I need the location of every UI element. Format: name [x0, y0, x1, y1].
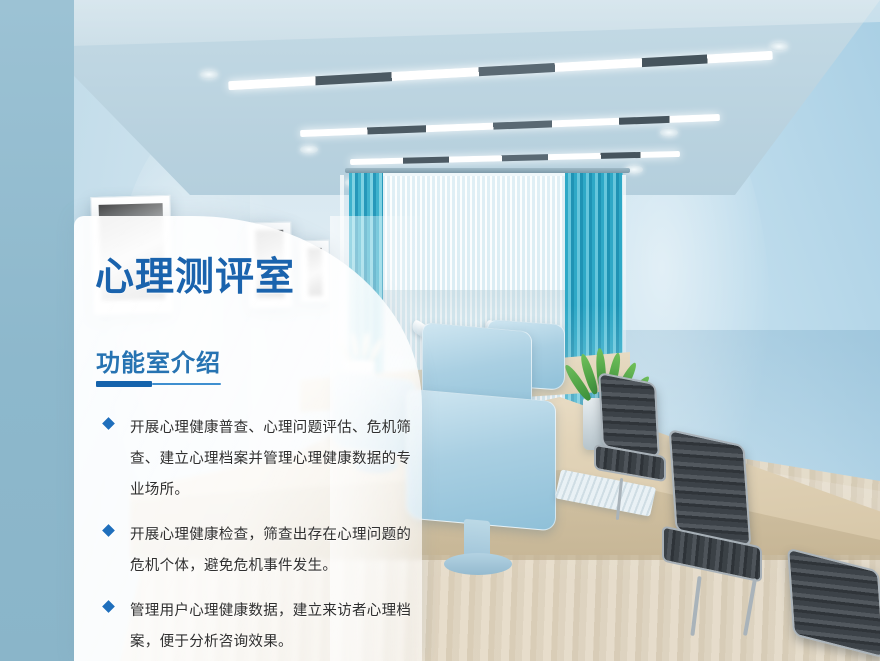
- curtain-rod: [345, 168, 630, 173]
- recessed-downlight-icon: [770, 42, 788, 51]
- left-accent-strip: [0, 0, 74, 661]
- info-panel-content: 心理测评室 功能室介绍 开展心理健康普查、心理问题评估、危机筛查、建立心理档案并…: [74, 216, 434, 661]
- list-item: 管理用户心理健康数据，建立来访者心理档案，便于分析咨询效果。: [86, 596, 416, 658]
- office-chair: [672, 438, 748, 538]
- feature-list: 开展心理健康普查、心理问题评估、危机筛查、建立心理档案并管理心理健康数据的专业场…: [86, 413, 416, 661]
- page-title: 心理测评室: [95, 258, 295, 297]
- office-chair: [790, 560, 880, 646]
- diamond-bullet-icon: [102, 600, 115, 613]
- office-chair: [600, 378, 658, 452]
- recessed-downlight-icon: [200, 70, 218, 79]
- room-poster: 心理测评室 功能室介绍 开展心理健康普查、心理问题评估、危机筛查、建立心理档案并…: [0, 0, 880, 661]
- list-item-text: 开展心理健康检查，筛查出存在心理问题的危机个体，避免危机事件发生。: [130, 527, 411, 574]
- list-item-text: 管理用户心理健康数据，建立来访者心理档案，便于分析咨询效果。: [130, 603, 411, 650]
- diamond-bullet-icon: [102, 524, 115, 537]
- underline-segment-primary: [96, 381, 152, 387]
- underline-segment-secondary: [152, 383, 221, 385]
- list-item: 开展心理健康普查、心理问题评估、危机筛查、建立心理档案并管理心理健康数据的专业场…: [86, 413, 416, 506]
- diamond-bullet-icon: [102, 417, 115, 430]
- subtitle-underline: [96, 381, 221, 387]
- recessed-downlight-icon: [300, 145, 318, 154]
- section-subtitle: 功能室介绍: [96, 343, 221, 378]
- recessed-downlight-icon: [660, 128, 678, 137]
- list-item: 开展心理健康检查，筛查出存在心理问题的危机个体，避免危机事件发生。: [86, 520, 416, 582]
- list-item-text: 开展心理健康普查、心理问题评估、危机筛查、建立心理档案并管理心理健康数据的专业场…: [130, 420, 411, 498]
